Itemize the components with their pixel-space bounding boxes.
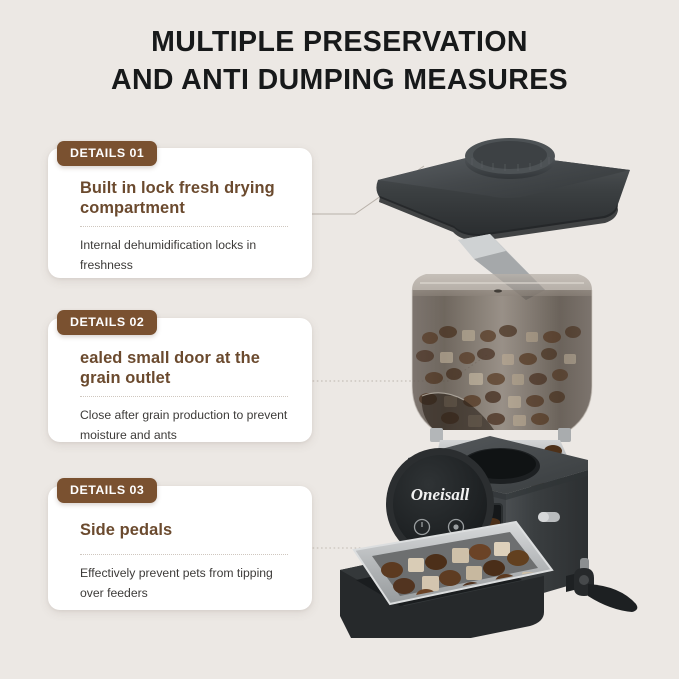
side-pedal (574, 558, 637, 612)
detail-description-3: Effectively prevent pets from tipping ov… (80, 564, 294, 604)
title-line-2: AND ANTI DUMPING MEASURES (0, 62, 679, 100)
detail-card-1: Built in lock fresh drying compartment I… (48, 148, 312, 278)
product-illustration: Oneisall (330, 118, 675, 638)
detail-badge-3: DETAILS 03 (57, 478, 157, 503)
detail-badge-1: DETAILS 01 (57, 141, 157, 166)
detail-description-1: Internal dehumidification locks in fresh… (80, 236, 294, 276)
detail-description-2: Close after grain production to prevent … (80, 406, 294, 446)
detail-divider-2 (80, 396, 288, 397)
detail-card-3: Side pedals Effectively prevent pets fro… (48, 486, 312, 610)
svg-text:Oneisall: Oneisall (411, 485, 470, 504)
lid-with-knob (376, 138, 630, 241)
transparent-grain-hopper (412, 274, 592, 442)
page-title: MULTIPLE PRESERVATION AND ANTI DUMPING M… (0, 24, 679, 99)
detail-heading-1: Built in lock fresh drying compartment (80, 178, 292, 219)
detail-divider-1 (80, 226, 288, 227)
detail-heading-2: ealed small door at the grain outlet (80, 348, 292, 389)
brand-logo: Oneisall (411, 485, 470, 504)
detail-card-2: ealed small door at the grain outlet Clo… (48, 318, 312, 442)
title-line-1: MULTIPLE PRESERVATION (151, 26, 528, 58)
detail-badge-2: DETAILS 02 (57, 310, 157, 335)
infographic-canvas: MULTIPLE PRESERVATION AND ANTI DUMPING M… (0, 0, 679, 679)
side-latch[interactable] (538, 512, 560, 522)
detail-divider-3 (80, 554, 288, 555)
detail-heading-3: Side pedals (80, 520, 292, 540)
